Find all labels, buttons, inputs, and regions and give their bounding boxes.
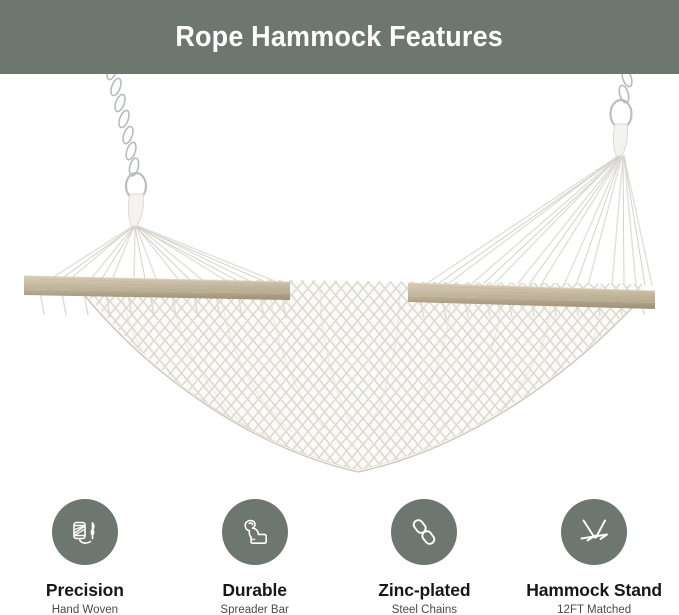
feature-row: Precision Hand Woven <box>0 480 679 615</box>
feature-item-zinc-plated: Zinc-plated Steel Chains <box>340 480 510 615</box>
thread-spool-needle-icon <box>67 514 103 550</box>
feature-title: Hammock Stand <box>526 581 662 599</box>
feature-title: Durable <box>222 581 286 599</box>
feature-title: Zinc-plated <box>378 581 470 599</box>
hammock-stand-icon <box>575 513 613 551</box>
feature-item-precision: Precision Hand Woven <box>0 480 170 615</box>
right-rope-gather <box>613 124 627 160</box>
feature-icon-circle <box>52 499 118 565</box>
feature-icon-circle <box>222 499 288 565</box>
feature-item-hammock-stand: Hammock Stand 12FT Matched <box>509 480 679 615</box>
page-title: Rope Hammock Features <box>176 23 504 52</box>
chain-link-icon <box>406 514 442 550</box>
feature-subtitle: 12FT Matched <box>557 604 631 615</box>
feature-icon-circle <box>561 499 627 565</box>
feature-icon-circle <box>391 499 457 565</box>
hero-product-image <box>0 74 679 480</box>
left-suspension-chain <box>105 74 140 177</box>
product-feature-infographic: Rope Hammock Features <box>0 0 679 615</box>
left-rope-gather <box>128 194 143 230</box>
feature-item-durable: Durable Spreader Bar <box>170 480 340 615</box>
feature-subtitle: Hand Woven <box>52 604 118 615</box>
right-rope-fan <box>420 156 652 288</box>
feature-subtitle: Spreader Bar <box>220 604 288 615</box>
flexed-bicep-icon <box>237 514 273 550</box>
feature-subtitle: Steel Chains <box>392 604 457 615</box>
rope-hammock-illustration <box>0 74 679 480</box>
feature-title: Precision <box>46 581 124 599</box>
left-spreader-bar <box>24 276 290 300</box>
header-bar: Rope Hammock Features <box>0 0 679 74</box>
